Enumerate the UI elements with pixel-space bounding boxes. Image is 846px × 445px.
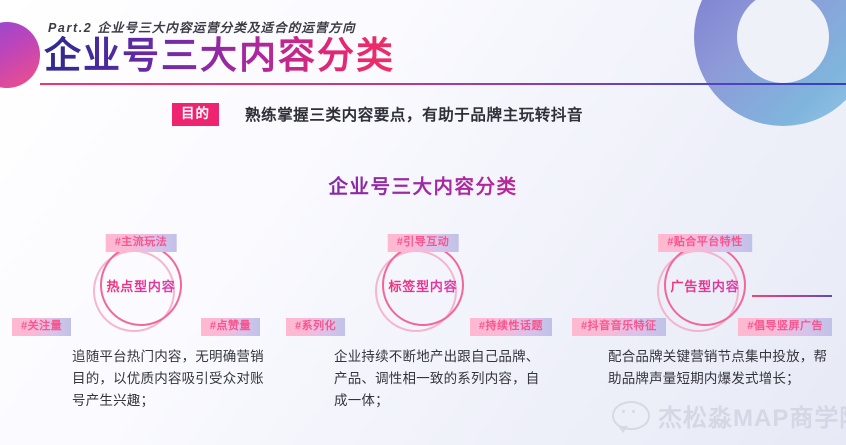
kicker-subtitle: 企业号三大内容运营分类及适合的运营方向 — [97, 21, 355, 35]
kicker-part-label: Part.2 — [48, 21, 92, 35]
content-groups: 热点型内容 #主流玩法 #关注量 #点赞量 追随平台热门内容，无明确营销目的，以… — [0, 228, 846, 428]
tag-bottom-left: #抖音音乐特征 — [572, 318, 666, 336]
side-accent-rule — [752, 295, 832, 297]
title-underline-rule — [40, 83, 846, 85]
ring-label: 热点型内容 — [106, 276, 175, 295]
tag-top: #主流玩法 — [106, 234, 177, 252]
circle-zone: 热点型内容 #主流玩法 #关注量 #点赞量 — [0, 228, 282, 340]
circle-zone: 标签型内容 #引导互动 #系列化 #持续性话题 — [282, 228, 564, 340]
tag-bottom-left: #关注量 — [12, 318, 71, 336]
tag-bottom-left: #系列化 — [286, 318, 345, 336]
decorative-half-circle — [0, 22, 40, 88]
content-group-advertising: 广告型内容 #贴合平台特性 #抖音音乐特征 #倡导竖屏广告 配合品牌关键营销节点… — [564, 228, 846, 428]
tag-bottom-right: #点赞量 — [201, 318, 260, 336]
section-heading: 企业号三大内容分类 — [0, 170, 846, 199]
tag-top: #引导互动 — [388, 234, 459, 252]
group-description: 配合品牌关键营销节点集中投放，帮助品牌声量短期内爆发式增长； — [564, 346, 846, 390]
tag-bottom-right: #倡导竖屏广告 — [738, 318, 832, 336]
purpose-text: 熟练掌握三类内容要点，有助于品牌主玩转抖音 — [245, 103, 583, 125]
decorative-ring — [694, 0, 846, 126]
circle-zone: 广告型内容 #贴合平台特性 #抖音音乐特征 #倡导竖屏广告 — [564, 228, 846, 340]
purpose-badge: 目的 — [172, 103, 219, 126]
content-group-tagged: 标签型内容 #引导互动 #系列化 #持续性话题 企业持续不断地产出跟自己品牌、产… — [282, 228, 564, 428]
group-description: 追随平台热门内容，无明确营销目的，以优质内容吸引受众对账号产生兴趣； — [0, 346, 282, 412]
kicker-line: Part.2企业号三大内容运营分类及适合的运营方向 — [48, 17, 356, 36]
page-title: 企业号三大内容分类 — [44, 36, 395, 76]
content-group-hotspot: 热点型内容 #主流玩法 #关注量 #点赞量 追随平台热门内容，无明确营销目的，以… — [0, 228, 282, 428]
slide-canvas: Part.2企业号三大内容运营分类及适合的运营方向 企业号三大内容分类 目的 熟… — [0, 0, 846, 445]
tag-top: #贴合平台特性 — [658, 234, 752, 252]
purpose-row: 目的 熟练掌握三类内容要点，有助于品牌主玩转抖音 — [172, 103, 583, 126]
tag-bottom-right: #持续性话题 — [470, 318, 552, 336]
ring-label: 广告型内容 — [670, 276, 739, 295]
ring-label: 标签型内容 — [388, 276, 457, 295]
group-description: 企业持续不断地产出跟自己品牌、产品、调性相一致的系列内容，自成一体； — [282, 346, 564, 412]
